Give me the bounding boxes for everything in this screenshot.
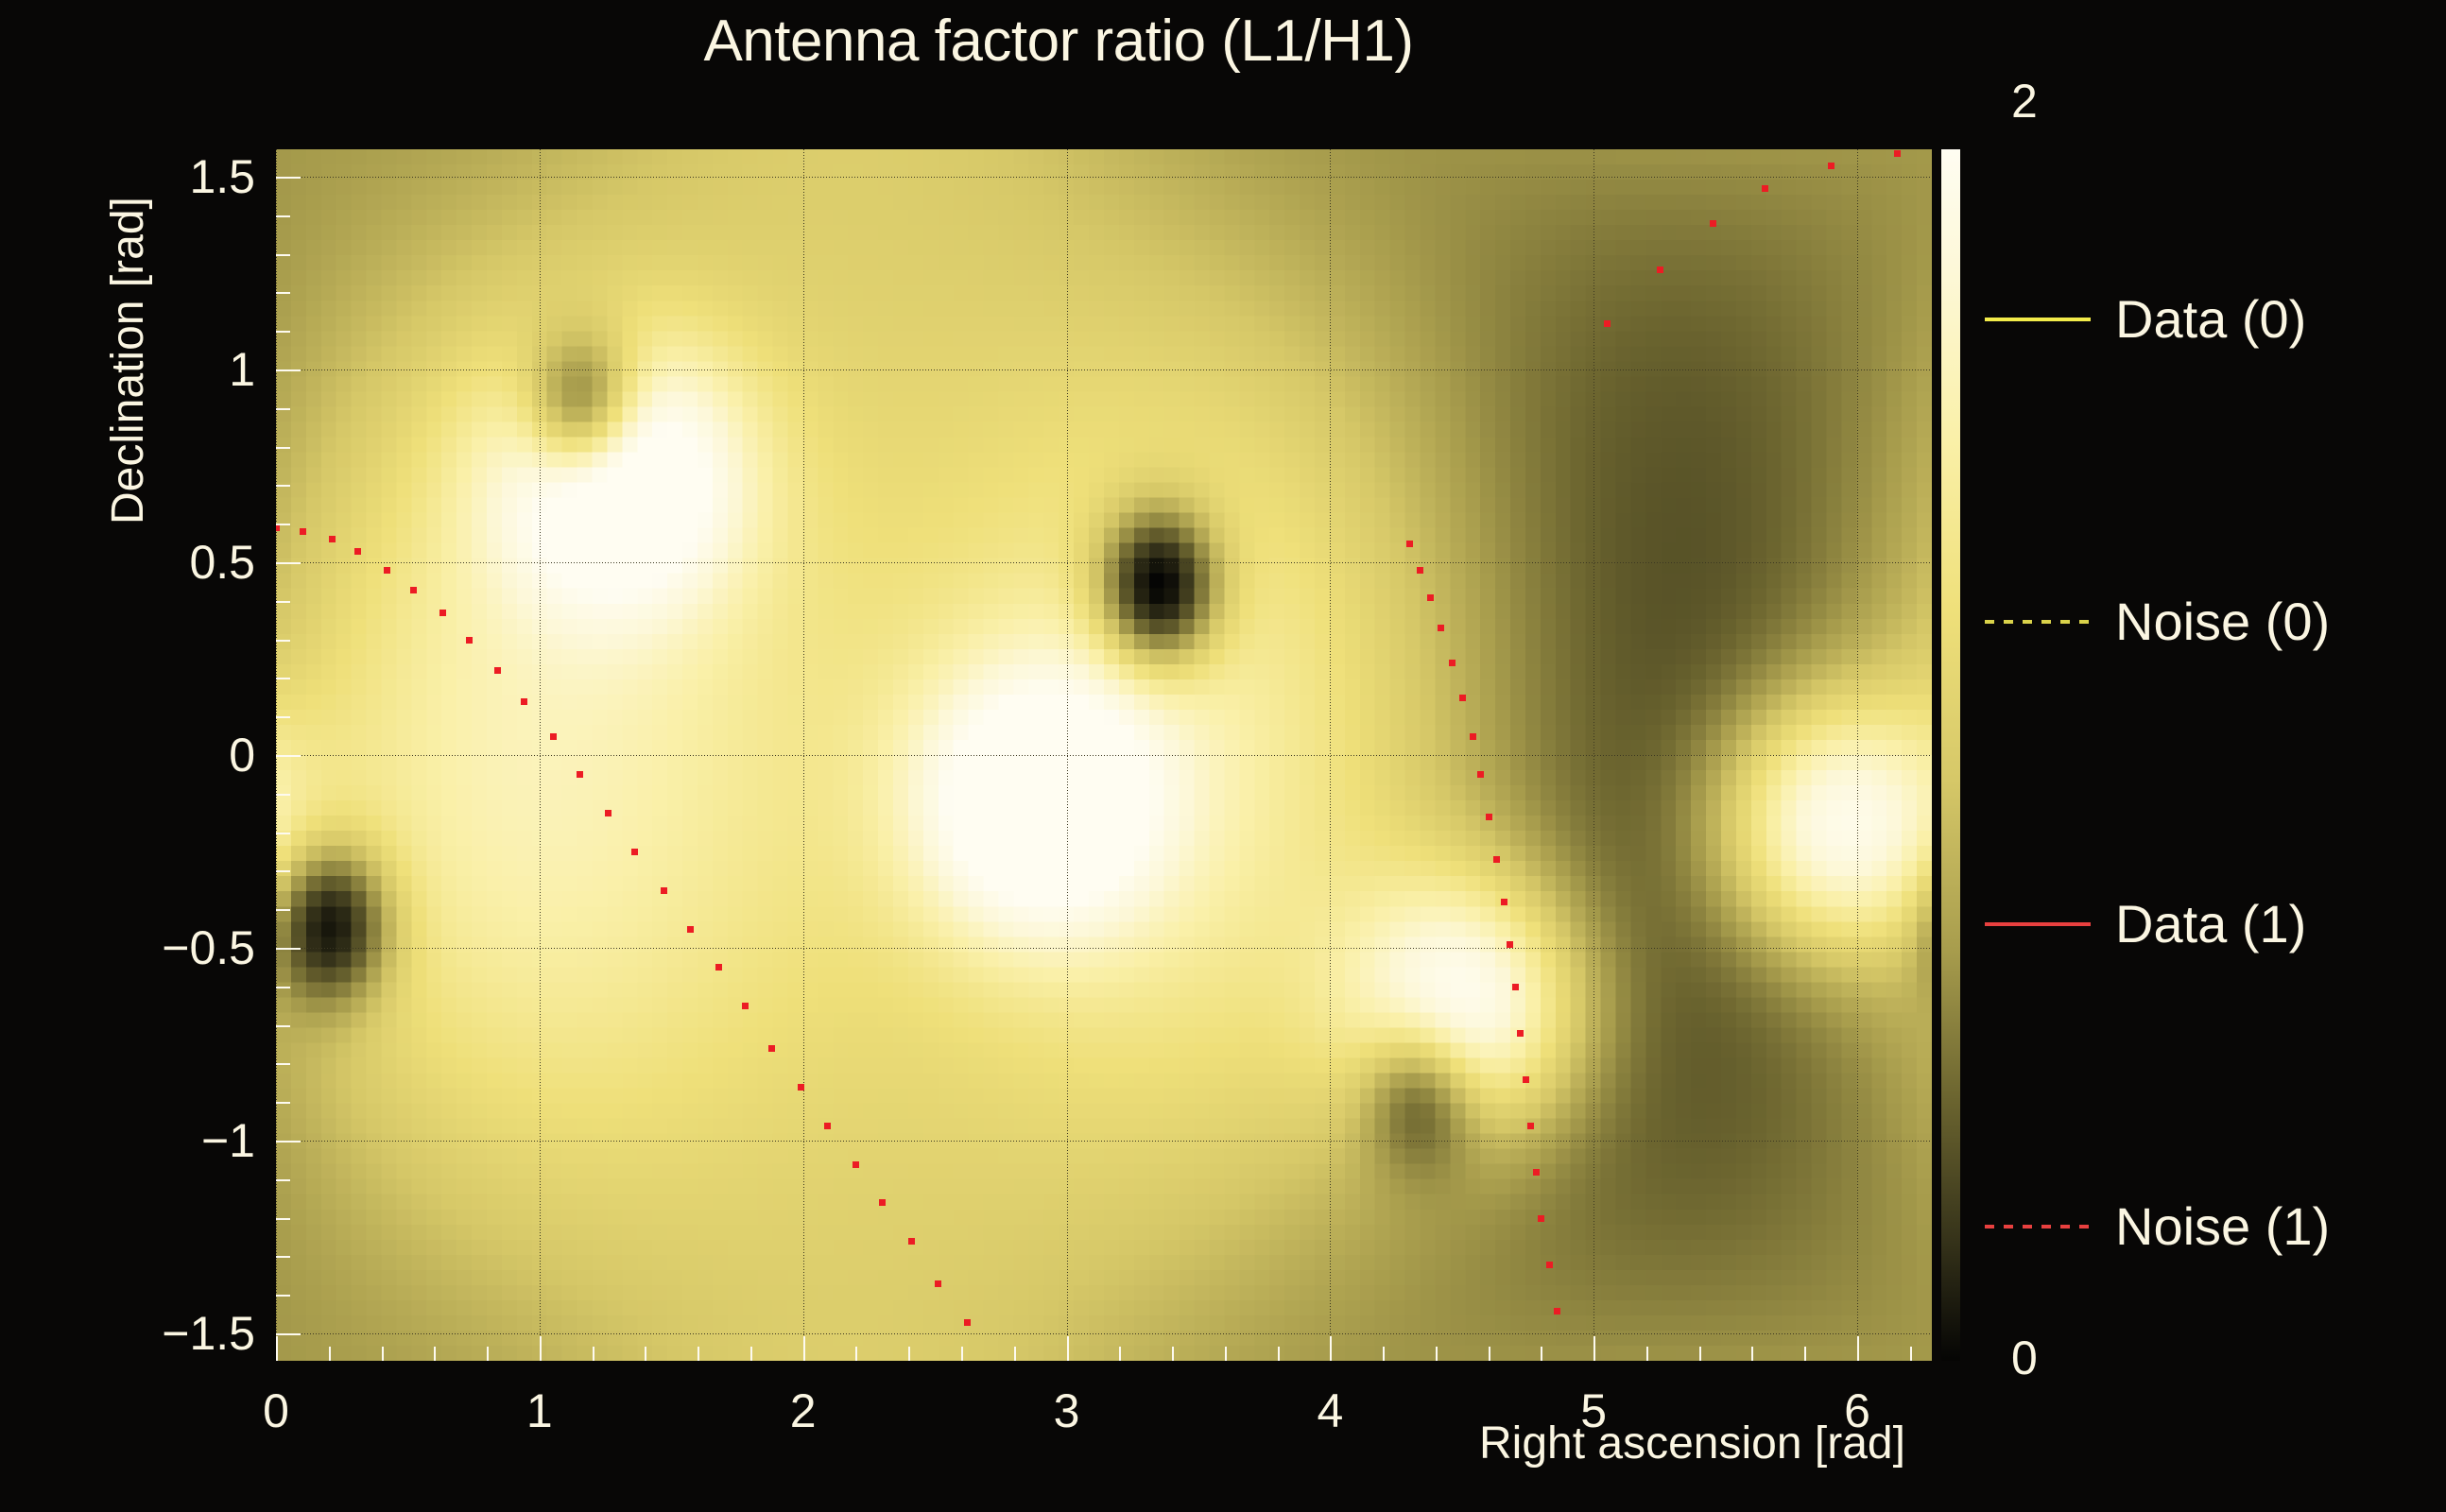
y-minor-tick bbox=[276, 833, 290, 834]
curve-point bbox=[384, 567, 390, 574]
y-minor-tick bbox=[276, 1063, 290, 1065]
y-minor-tick bbox=[276, 215, 290, 217]
x-tick-label: 3 bbox=[1054, 1383, 1080, 1438]
curve-point bbox=[1657, 266, 1663, 273]
curve-point bbox=[1554, 1308, 1560, 1314]
curve-point bbox=[935, 1280, 941, 1287]
curve-point bbox=[410, 587, 417, 593]
curve-point bbox=[879, 1199, 886, 1206]
x-minor-tick bbox=[961, 1347, 963, 1361]
y-minor-tick bbox=[276, 562, 290, 564]
y-minor-tick bbox=[276, 601, 290, 603]
curve-point bbox=[1438, 625, 1444, 631]
x-minor-tick bbox=[855, 1347, 857, 1361]
curve-point bbox=[631, 849, 638, 855]
y-tick-label: −1.5 bbox=[104, 1306, 255, 1361]
curve-point bbox=[824, 1123, 831, 1129]
curve-point bbox=[798, 1084, 804, 1091]
x-minor-tick bbox=[1436, 1347, 1438, 1361]
curve-point bbox=[1501, 899, 1507, 905]
curve-point bbox=[661, 887, 667, 894]
curve-point bbox=[715, 964, 722, 971]
curve-point bbox=[1894, 150, 1901, 157]
x-minor-tick bbox=[1541, 1347, 1542, 1361]
curve-point bbox=[276, 524, 280, 531]
legend: Data (0)Noise (0)Data (1)Noise (1) bbox=[1983, 149, 2427, 1361]
x-tick-label: 2 bbox=[790, 1383, 817, 1438]
curve-point bbox=[494, 667, 501, 674]
curve-point bbox=[1507, 941, 1513, 948]
x-minor-tick bbox=[1119, 1347, 1121, 1361]
y-minor-tick bbox=[276, 1218, 290, 1220]
heatmap-plot-area[interactable] bbox=[276, 149, 1932, 1361]
curve-point bbox=[550, 733, 557, 740]
x-major-tick bbox=[276, 1336, 278, 1361]
curve-point bbox=[1406, 541, 1413, 547]
y-minor-tick bbox=[276, 331, 290, 333]
x-minor-tick bbox=[698, 1347, 699, 1361]
legend-label: Data (1) bbox=[2115, 896, 2306, 953]
x-minor-tick bbox=[750, 1347, 752, 1361]
curve-point bbox=[964, 1319, 971, 1326]
curve-point bbox=[687, 926, 694, 933]
y-minor-tick bbox=[276, 177, 290, 179]
curve-point bbox=[1459, 695, 1466, 701]
curve-point bbox=[1517, 1030, 1524, 1037]
curve-point bbox=[466, 637, 473, 644]
x-major-tick bbox=[540, 1336, 542, 1361]
x-minor-tick bbox=[382, 1347, 384, 1361]
y-minor-tick bbox=[276, 909, 290, 911]
x-minor-tick bbox=[1699, 1347, 1701, 1361]
y-minor-tick bbox=[276, 254, 290, 256]
x-minor-tick bbox=[645, 1347, 646, 1361]
x-minor-tick bbox=[1489, 1347, 1490, 1361]
chart-title: Antenna factor ratio (L1/H1) bbox=[0, 8, 2117, 75]
x-minor-tick bbox=[1804, 1347, 1806, 1361]
x-minor-tick bbox=[434, 1347, 436, 1361]
y-minor-tick bbox=[276, 640, 290, 642]
curve-point bbox=[439, 610, 446, 616]
curve-point bbox=[1477, 771, 1484, 778]
y-minor-tick bbox=[276, 447, 290, 449]
curve-point bbox=[1533, 1169, 1540, 1176]
y-minor-tick bbox=[276, 678, 290, 679]
y-tick-label: 0.5 bbox=[104, 535, 255, 590]
curve-point bbox=[1527, 1123, 1534, 1129]
curve-point bbox=[1449, 660, 1456, 666]
colorbar bbox=[1941, 149, 1960, 1361]
x-minor-tick bbox=[329, 1347, 331, 1361]
curve-point bbox=[1538, 1215, 1544, 1222]
x-major-tick bbox=[1067, 1336, 1069, 1361]
curve-point bbox=[354, 548, 361, 555]
y-minor-tick bbox=[276, 1333, 290, 1335]
y-axis-title: Declination [rad] bbox=[102, 197, 154, 524]
x-tick-label: 0 bbox=[263, 1383, 289, 1438]
curve-point bbox=[1470, 733, 1476, 740]
y-minor-tick bbox=[276, 716, 290, 718]
curve-point bbox=[1546, 1262, 1553, 1268]
x-tick-label: 4 bbox=[1317, 1383, 1343, 1438]
curve-point bbox=[853, 1161, 859, 1168]
y-minor-tick bbox=[276, 1141, 290, 1143]
x-major-tick bbox=[1857, 1336, 1859, 1361]
x-minor-tick bbox=[1225, 1347, 1227, 1361]
y-minor-tick bbox=[276, 755, 290, 757]
x-axis-title: Right ascension [rad] bbox=[1479, 1417, 1905, 1469]
x-tick-label: 1 bbox=[526, 1383, 553, 1438]
legend-item-data-1[interactable]: Data (1) bbox=[1983, 896, 2427, 953]
curve-point bbox=[300, 528, 306, 535]
colorbar-tick-max: 2 bbox=[2011, 74, 2038, 129]
legend-item-noise-0[interactable]: Noise (0) bbox=[1983, 593, 2427, 650]
legend-swatch-dashed bbox=[1985, 1225, 2091, 1228]
x-major-tick bbox=[1593, 1336, 1595, 1361]
legend-item-noise-1[interactable]: Noise (1) bbox=[1983, 1198, 2427, 1255]
x-minor-tick bbox=[1014, 1347, 1016, 1361]
curve-point bbox=[908, 1238, 915, 1245]
curve-point bbox=[1512, 984, 1519, 990]
curve-point bbox=[1710, 220, 1716, 227]
x-minor-tick bbox=[1910, 1347, 1912, 1361]
curve-point bbox=[1828, 163, 1834, 169]
x-major-tick bbox=[1330, 1336, 1332, 1361]
y-minor-tick bbox=[276, 292, 290, 294]
curve-point bbox=[1523, 1076, 1529, 1083]
curve-point bbox=[1486, 814, 1492, 820]
y-tick-label: 0 bbox=[104, 728, 255, 782]
heatmap-canvas bbox=[276, 149, 1932, 1361]
legend-label: Noise (1) bbox=[2115, 1198, 2330, 1255]
x-minor-tick bbox=[593, 1347, 594, 1361]
legend-swatch-dashed bbox=[1985, 620, 2091, 624]
curve-point bbox=[521, 698, 527, 705]
x-major-tick bbox=[803, 1336, 805, 1361]
curve-point bbox=[329, 536, 336, 542]
y-minor-tick bbox=[276, 1256, 290, 1258]
legend-swatch-solid bbox=[1985, 922, 2091, 926]
x-minor-tick bbox=[1383, 1347, 1385, 1361]
y-minor-tick bbox=[276, 1025, 290, 1027]
y-minor-tick bbox=[276, 485, 290, 487]
y-tick-label: −1 bbox=[104, 1113, 255, 1168]
x-minor-tick bbox=[1646, 1347, 1648, 1361]
x-minor-tick bbox=[1172, 1347, 1174, 1361]
figure: Antenna factor ratio (L1/H1) 0123456 1.5… bbox=[0, 0, 2446, 1512]
y-minor-tick bbox=[276, 1179, 290, 1181]
curve-point bbox=[1493, 856, 1500, 863]
y-tick-label: −0.5 bbox=[104, 920, 255, 975]
legend-swatch-solid bbox=[1985, 318, 2091, 321]
y-minor-tick bbox=[276, 870, 290, 872]
curve-point bbox=[742, 1003, 749, 1009]
curve-point bbox=[1762, 185, 1768, 192]
y-minor-tick bbox=[276, 1102, 290, 1104]
curve-point bbox=[605, 810, 611, 816]
x-minor-tick bbox=[1278, 1347, 1280, 1361]
curve-point bbox=[577, 771, 583, 778]
y-minor-tick bbox=[276, 408, 290, 410]
x-minor-tick bbox=[908, 1347, 910, 1361]
legend-label: Noise (0) bbox=[2115, 593, 2330, 650]
y-minor-tick bbox=[276, 794, 290, 796]
curve-point bbox=[768, 1045, 775, 1052]
x-minor-tick bbox=[487, 1347, 489, 1361]
legend-item-data-0[interactable]: Data (0) bbox=[1983, 291, 2427, 348]
y-minor-tick bbox=[276, 369, 290, 371]
curve-point bbox=[1427, 594, 1434, 601]
x-minor-tick bbox=[1751, 1347, 1753, 1361]
y-minor-tick bbox=[276, 948, 290, 950]
y-minor-tick bbox=[276, 987, 290, 988]
y-minor-tick bbox=[276, 1295, 290, 1297]
legend-label: Data (0) bbox=[2115, 291, 2306, 348]
y-minor-tick bbox=[276, 524, 290, 525]
curve-point bbox=[1417, 567, 1423, 574]
curve-point bbox=[1604, 320, 1611, 327]
